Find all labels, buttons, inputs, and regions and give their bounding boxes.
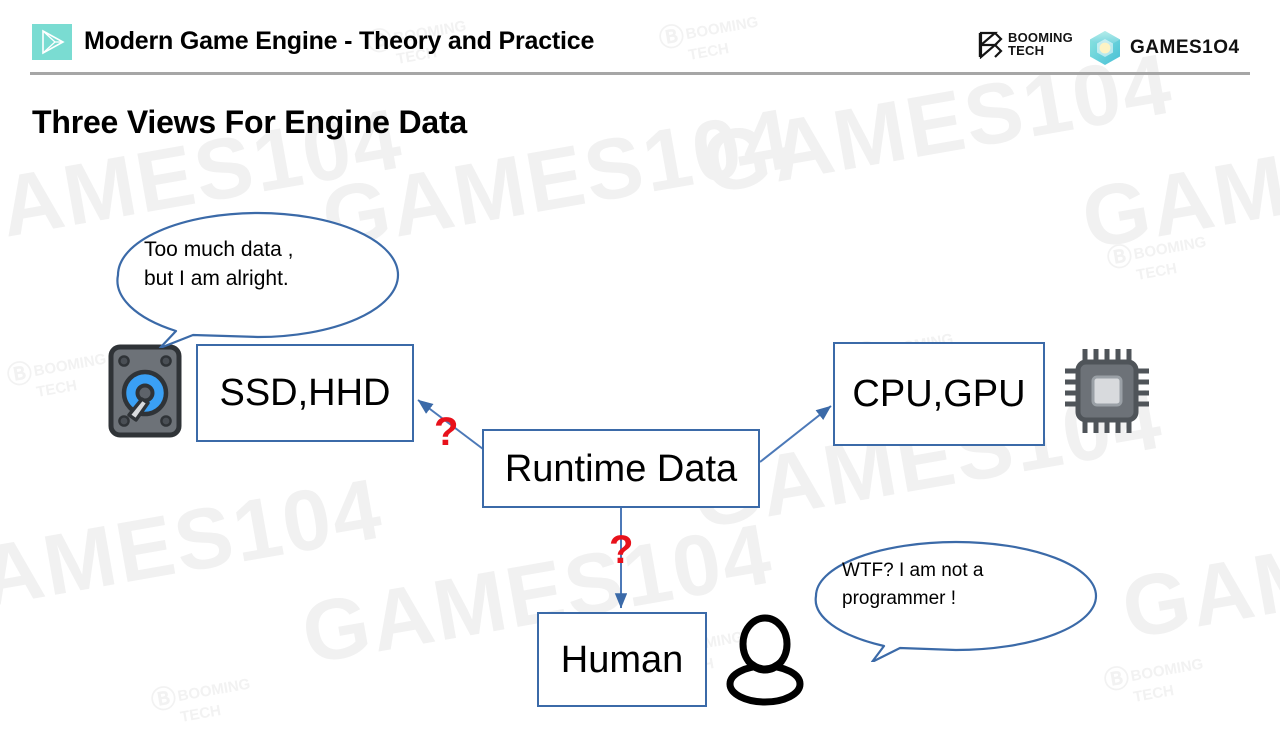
slide-header: Modern Game Engine - Theory and Practice… [0,0,1280,74]
question-mark-storage: ? [434,412,458,452]
speech-bubble-human-line1: WTF? I am not a [842,558,983,583]
hard-disk-drive-icon [105,341,185,446]
speech-bubble-storage: Too much data , but I am alright. [98,203,418,348]
person-silhouette-icon [725,614,805,711]
cpu-chip-icon [1063,345,1151,442]
games104-cube-icon [1088,30,1122,66]
games104-wordmark: GAMES1O4 [1130,37,1240,59]
booming-tech-line2: TECH [1008,45,1073,58]
node-runtime-data-label: Runtime Data [505,450,737,488]
node-processor-label: CPU,GPU [852,375,1025,413]
play-triangle-logo-icon [32,24,72,60]
node-storage[interactable]: SSD,HHD [196,344,414,442]
question-mark-human: ? [609,530,633,570]
booming-tech-wordmark: BOOMING TECH [1008,32,1073,57]
speech-bubble-human: WTF? I am not a programmer ! [800,534,1112,662]
booming-tech-mark-icon [978,31,1004,59]
slide-canvas: GAMES104 GAMES104 GAMES104 GAMES104 GAME… [0,0,1280,738]
node-human[interactable]: Human [537,612,707,707]
header-divider [30,72,1250,75]
node-processor[interactable]: CPU,GPU [833,342,1045,446]
header-title: Modern Game Engine - Theory and Practice [84,27,594,56]
page-title: Three Views For Engine Data [32,104,467,141]
node-runtime-data[interactable]: Runtime Data [482,429,760,508]
node-human-label: Human [561,641,684,679]
speech-bubble-storage-line2: but I am alright. [144,265,289,293]
node-storage-label: SSD,HHD [219,374,390,412]
speech-bubble-human-line2: programmer ! [842,586,956,611]
booming-tech-logo: BOOMING TECH [978,31,1073,59]
speech-bubble-storage-line1: Too much data , [144,236,293,264]
games104-logo: GAMES1O4 [1088,30,1240,66]
